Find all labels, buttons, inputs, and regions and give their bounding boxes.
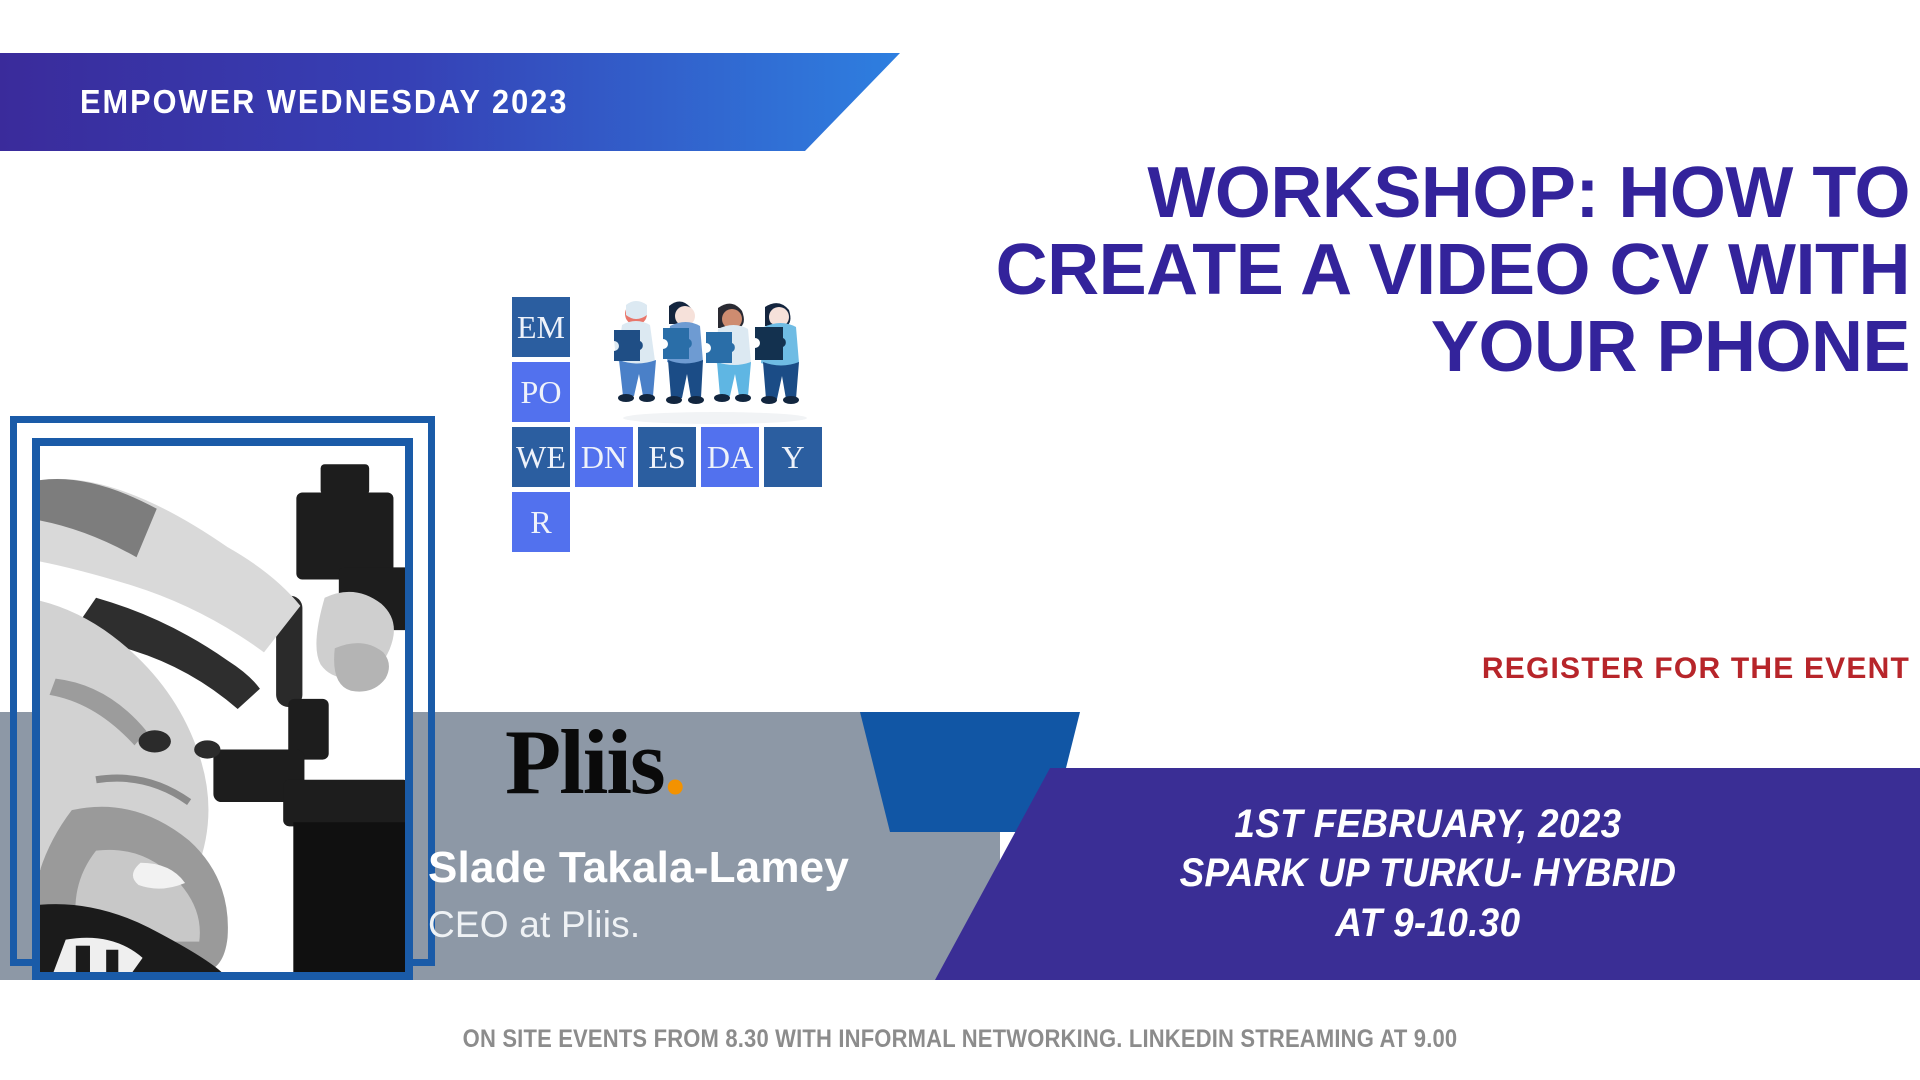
event-details-text: 1ST FEBRUARY, 2023 SPARK UP TURKU- HYBRI… — [1179, 800, 1676, 949]
speaker-photo-frame — [10, 416, 435, 966]
crossword-tile-dn: DN — [575, 427, 633, 487]
event-time: AT 9-10.30 — [1179, 899, 1676, 949]
poster-title: WORKSHOP: HOW TO CREATE A VIDEO CV WITH … — [900, 155, 1910, 386]
footer-note: ON SITE EVENTS FROM 8.30 WITH INFORMAL N… — [115, 1025, 1805, 1054]
people-puzzle-illustration — [600, 292, 830, 427]
speaker-photo — [40, 446, 405, 972]
event-details-banner: 1ST FEBRUARY, 2023 SPARK UP TURKU- HYBRI… — [935, 768, 1920, 980]
crossword-tile-es: ES — [638, 427, 696, 487]
speaker-role: CEO at Pliis. — [428, 904, 640, 946]
event-series-ribbon: EMPOWER WEDNESDAY 2023 — [0, 53, 900, 151]
event-series-label: EMPOWER WEDNESDAY 2023 — [80, 83, 568, 121]
speaker-name: Slade Takala-Lamey — [428, 843, 849, 893]
crossword-tile-em: EM — [512, 297, 570, 357]
poster-canvas: EMPOWER WEDNESDAY 2023 EM PO WE DN ES DA… — [0, 0, 1920, 1080]
crossword-tile-po: PO — [512, 362, 570, 422]
crossword-tile-da: DA — [701, 427, 759, 487]
pliis-wordmark: Pliis — [505, 711, 664, 813]
event-date: 1ST FEBRUARY, 2023 — [1179, 800, 1676, 850]
crossword-tile-we: WE — [512, 427, 570, 487]
crossword-tile-r: R — [512, 492, 570, 552]
event-venue: SPARK UP TURKU- HYBRID — [1179, 849, 1676, 899]
pliis-logo: Pliis. — [505, 716, 685, 808]
crossword-tile-y: Y — [764, 427, 822, 487]
photo-frame-inner-border — [32, 438, 413, 980]
register-cta-text[interactable]: REGISTER FOR THE EVENT — [900, 652, 1910, 686]
pliis-logo-dot: . — [664, 711, 685, 813]
